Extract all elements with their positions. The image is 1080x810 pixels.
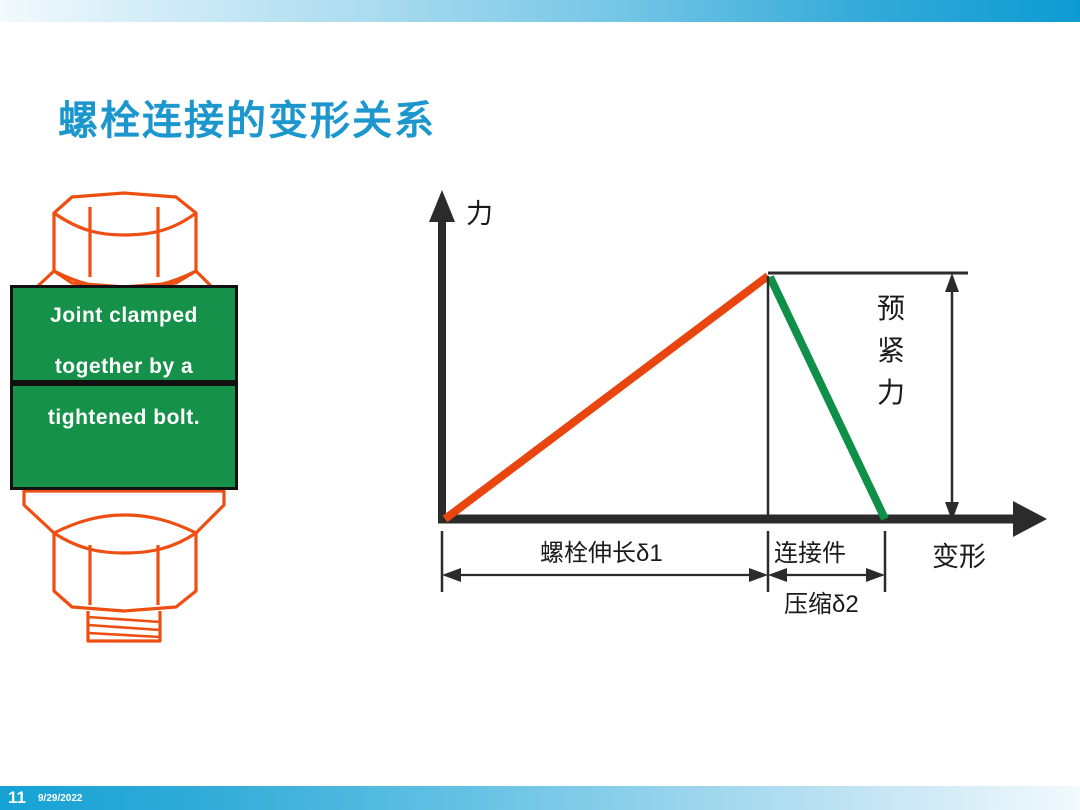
joint-caption-line-2: together by a <box>14 341 234 392</box>
nut-flange <box>24 491 224 533</box>
bolt-elongation-label: 螺栓伸长δ1 <box>540 533 663 568</box>
top-decorative-bar <box>0 0 1080 22</box>
bolted-joint-illustration: Joint clamped together by a tightened bo… <box>0 185 260 645</box>
bolt-head-top-curve <box>54 213 196 235</box>
y-axis <box>429 190 455 522</box>
slide-date: 9/29/2022 <box>38 793 83 804</box>
thread-lines <box>88 617 160 637</box>
joint-caption: Joint clamped together by a tightened bo… <box>14 290 234 443</box>
slide-canvas: 螺栓连接的变形关系 <box>0 0 1080 810</box>
compression-label: 压缩δ2 <box>784 584 859 619</box>
bolt-elongation-dimension-arrow <box>442 568 768 582</box>
joint-caption-line-3: tightened bolt. <box>14 392 234 443</box>
preload-dimension-arrow <box>945 273 959 521</box>
bottom-decorative-bar <box>0 786 1080 810</box>
member-compression-line <box>770 277 885 519</box>
member-label: 连接件 <box>774 533 846 568</box>
bolt-elongation-line <box>445 276 768 519</box>
y-axis-label: 力 <box>466 192 493 231</box>
member-compression-dimension-arrow <box>768 568 885 582</box>
preload-label: 预紧力 <box>874 288 908 414</box>
page-number: 11 <box>8 788 26 808</box>
x-axis-label: 变形 <box>932 535 986 574</box>
page-title: 螺栓连接的变形关系 <box>58 88 436 146</box>
nut-top-curve <box>54 533 196 553</box>
bolt-head-outer <box>54 193 196 287</box>
joint-caption-line-1: Joint clamped <box>14 290 234 341</box>
x-axis <box>438 501 1047 537</box>
